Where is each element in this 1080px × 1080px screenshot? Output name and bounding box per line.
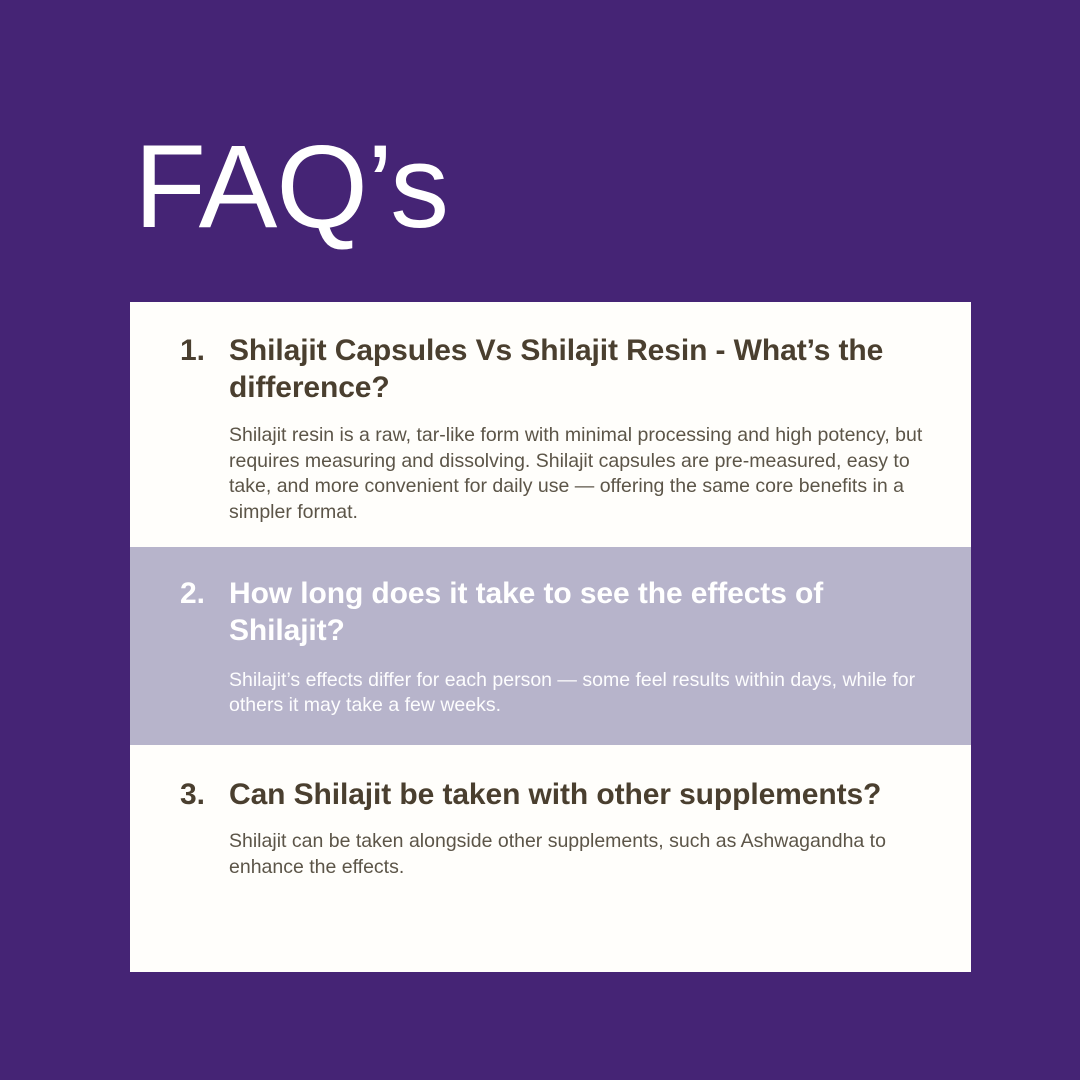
faq-item-2[interactable]: 2. How long does it take to see the effe… [130, 547, 971, 744]
faq-question-text: Shilajit Capsules Vs Shilajit Resin - Wh… [229, 333, 971, 406]
faq-answer-text: Shilajit’s effects differ for each perso… [229, 668, 971, 719]
faq-answer-text: Shilajit resin is a raw, tar-like form w… [229, 423, 971, 525]
faq-question-row: 3. Can Shilajit be taken with other supp… [130, 777, 971, 814]
faq-card: 1. Shilajit Capsules Vs Shilajit Resin -… [130, 302, 971, 972]
faq-item-number: 3. [130, 777, 229, 814]
faq-item-number: 1. [130, 333, 229, 370]
faq-question-text: How long does it take to see the effects… [229, 576, 971, 649]
page-title: FAQ’s [134, 128, 448, 246]
faq-question-text: Can Shilajit be taken with other supplem… [229, 777, 971, 814]
faq-item-1[interactable]: 1. Shilajit Capsules Vs Shilajit Resin -… [130, 302, 971, 547]
faq-item-number: 2. [130, 576, 229, 613]
faq-question-row: 2. How long does it take to see the effe… [130, 576, 971, 649]
faq-question-row: 1. Shilajit Capsules Vs Shilajit Resin -… [130, 333, 971, 406]
faq-item-3[interactable]: 3. Can Shilajit be taken with other supp… [130, 745, 971, 903]
faq-answer-text: Shilajit can be taken alongside other su… [229, 829, 971, 880]
faq-page: FAQ’s 1. Shilajit Capsules Vs Shilajit R… [0, 0, 1080, 1080]
